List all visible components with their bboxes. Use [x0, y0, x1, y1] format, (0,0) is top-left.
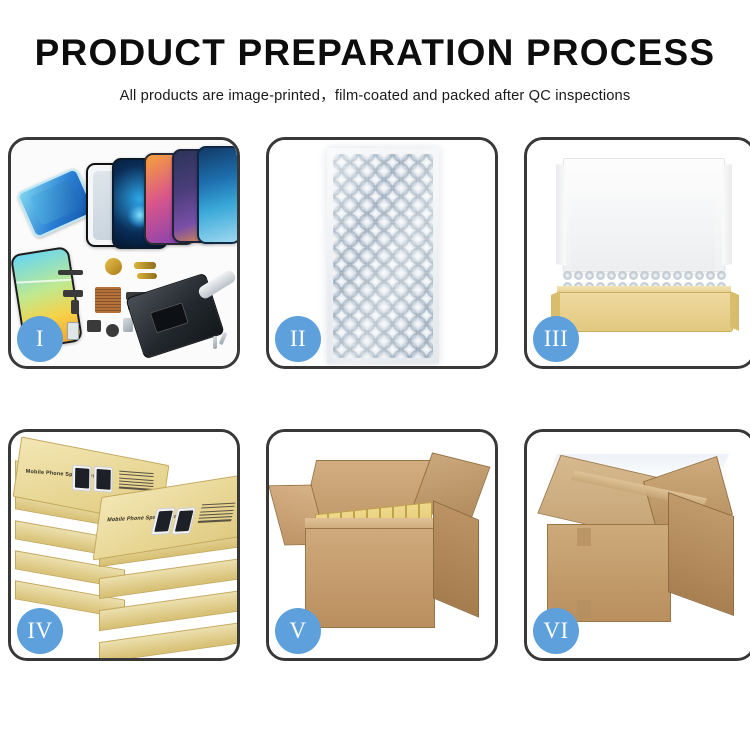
step-panel-5: V: [266, 429, 498, 661]
box-product-image-4: [171, 507, 196, 535]
box-spec-lines: [119, 471, 154, 491]
carton-front-face: [305, 528, 435, 628]
packing-tape-tab-bottom: [577, 600, 591, 618]
phone-screen-blue: [16, 167, 97, 240]
step-panel-2: II: [266, 137, 498, 369]
bubble-wrap-sheen: [327, 148, 439, 364]
small-screen-part-icon: [67, 322, 79, 340]
step-panel-6: VI: [524, 429, 750, 661]
packing-tape-tab-top: [577, 528, 591, 546]
flex-cable-part-icon: [134, 262, 156, 269]
connector-part-icon: [63, 290, 83, 297]
box-spec-lines-2: [198, 503, 236, 523]
chip-part-icon: [87, 320, 101, 332]
mailer-box-front: [557, 292, 733, 332]
connector-part-icon-2: [71, 300, 79, 314]
mailer-box-interior: [571, 198, 715, 270]
button-part-icon: [106, 324, 119, 337]
flex-cable-part-icon-2: [137, 273, 157, 279]
step-badge-2: II: [275, 316, 321, 362]
product-preparation-infographic: PRODUCT PREPARATION PROCESS All products…: [0, 0, 750, 750]
phone-screen-teal: [197, 146, 237, 244]
page-subtitle: All products are image-printed，film-coat…: [0, 84, 750, 105]
step-badge-5: V: [275, 608, 321, 654]
box-product-image: [72, 465, 92, 492]
copper-grid-part-icon: [95, 287, 121, 313]
screw-part-icon: [213, 336, 217, 349]
step-badge-3: III: [533, 316, 579, 362]
speaker-part-icon: [58, 270, 83, 275]
step-panel-1: I: [8, 137, 240, 369]
carton-side-face: [433, 500, 479, 618]
step-badge-4: IV: [17, 608, 63, 654]
box-product-image-2: [93, 466, 113, 493]
step-badge-1: I: [17, 316, 63, 362]
step-panel-3: III: [524, 137, 750, 369]
page-title: PRODUCT PREPARATION PROCESS: [0, 34, 750, 71]
bubble-wrap-bundle: [327, 148, 439, 364]
page-header: PRODUCT PREPARATION PROCESS All products…: [0, 0, 750, 105]
step-badge-6: VI: [533, 608, 579, 654]
step-panel-4: Mobile Phone Spare Parts Mobile Phone Sp…: [8, 429, 240, 661]
process-steps-grid: I II III: [8, 137, 742, 661]
sealed-carton-front-face: [547, 524, 671, 622]
coil-part-icon: [105, 258, 122, 275]
